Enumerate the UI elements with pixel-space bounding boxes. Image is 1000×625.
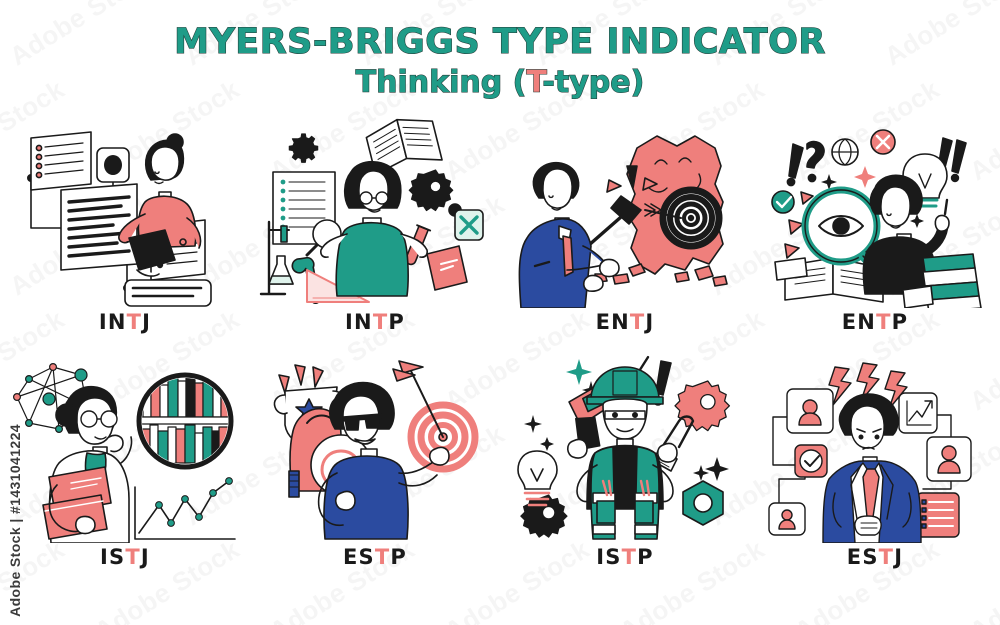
type-label-prefix: IN <box>99 310 127 334</box>
subtitle-highlight-letter: T <box>526 65 542 100</box>
type-card-entj[interactable]: ENTJ <box>500 118 750 353</box>
header: MYERS-BRIGGS TYPE INDICATOR Thinking (T-… <box>0 0 1000 120</box>
type-label-entj: ENTJ <box>596 310 655 334</box>
type-label-prefix: EN <box>596 310 630 334</box>
type-label-highlight: T <box>622 545 638 569</box>
type-label-highlight: T <box>373 310 389 334</box>
type-label-suffix: P <box>390 545 407 569</box>
page-title: MYERS-BRIGGS TYPE INDICATOR <box>0 24 1000 61</box>
type-label-suffix: P <box>892 310 909 334</box>
illustration-intj <box>9 118 241 308</box>
type-label-highlight: T <box>125 545 141 569</box>
type-label-highlight: T <box>879 545 895 569</box>
subtitle-suffix: -type) <box>542 65 644 100</box>
type-label-prefix: ES <box>343 545 375 569</box>
illustration-intp <box>259 118 491 308</box>
type-card-estp[interactable]: ESTP <box>250 353 500 588</box>
type-card-intp[interactable]: INTP <box>250 118 500 353</box>
type-card-intj[interactable]: INTJ <box>0 118 250 353</box>
type-card-istp[interactable]: ISTP <box>500 353 750 588</box>
type-card-estj[interactable]: ESTJ <box>750 353 1000 588</box>
type-label-estj: ESTJ <box>847 545 903 569</box>
type-label-highlight: T <box>630 310 646 334</box>
type-label-entp: ENTP <box>842 310 908 334</box>
type-card-istj[interactable]: ISTJ <box>0 353 250 588</box>
type-label-suffix: J <box>141 545 150 569</box>
illustration-estj <box>759 353 991 543</box>
type-label-prefix: IN <box>345 310 373 334</box>
type-label-suffix: J <box>894 545 903 569</box>
type-label-istj: ISTJ <box>100 545 150 569</box>
type-label-estp: ESTP <box>343 545 407 569</box>
type-label-prefix: EN <box>842 310 876 334</box>
illustration-istp <box>509 353 741 543</box>
type-label-suffix: J <box>645 310 654 334</box>
illustration-entj <box>509 118 741 308</box>
stock-watermark-text: Adobe Stock | #1431041224 <box>7 424 23 617</box>
mbti-types-grid: INTJ <box>0 118 1000 618</box>
type-label-intj: INTJ <box>99 310 151 334</box>
type-label-highlight: T <box>876 310 892 334</box>
type-label-highlight: T <box>127 310 143 334</box>
type-label-intp: INTP <box>345 310 405 334</box>
illustration-entp <box>759 118 991 308</box>
type-label-prefix: IS <box>596 545 621 569</box>
type-label-istp: ISTP <box>596 545 653 569</box>
type-label-prefix: IS <box>100 545 125 569</box>
stock-watermark-sidebar: Adobe Stock | #1431041224 <box>2 0 28 625</box>
illustration-istj <box>9 353 241 543</box>
illustration-estp <box>259 353 491 543</box>
type-card-entp[interactable]: ENTP <box>750 118 1000 353</box>
type-label-suffix: P <box>388 310 405 334</box>
subtitle-prefix: Thinking ( <box>356 65 527 100</box>
type-label-prefix: ES <box>847 545 879 569</box>
type-label-suffix: P <box>637 545 654 569</box>
page-subtitle: Thinking (T-type) <box>0 67 1000 99</box>
type-label-highlight: T <box>375 545 391 569</box>
type-label-suffix: J <box>142 310 151 334</box>
